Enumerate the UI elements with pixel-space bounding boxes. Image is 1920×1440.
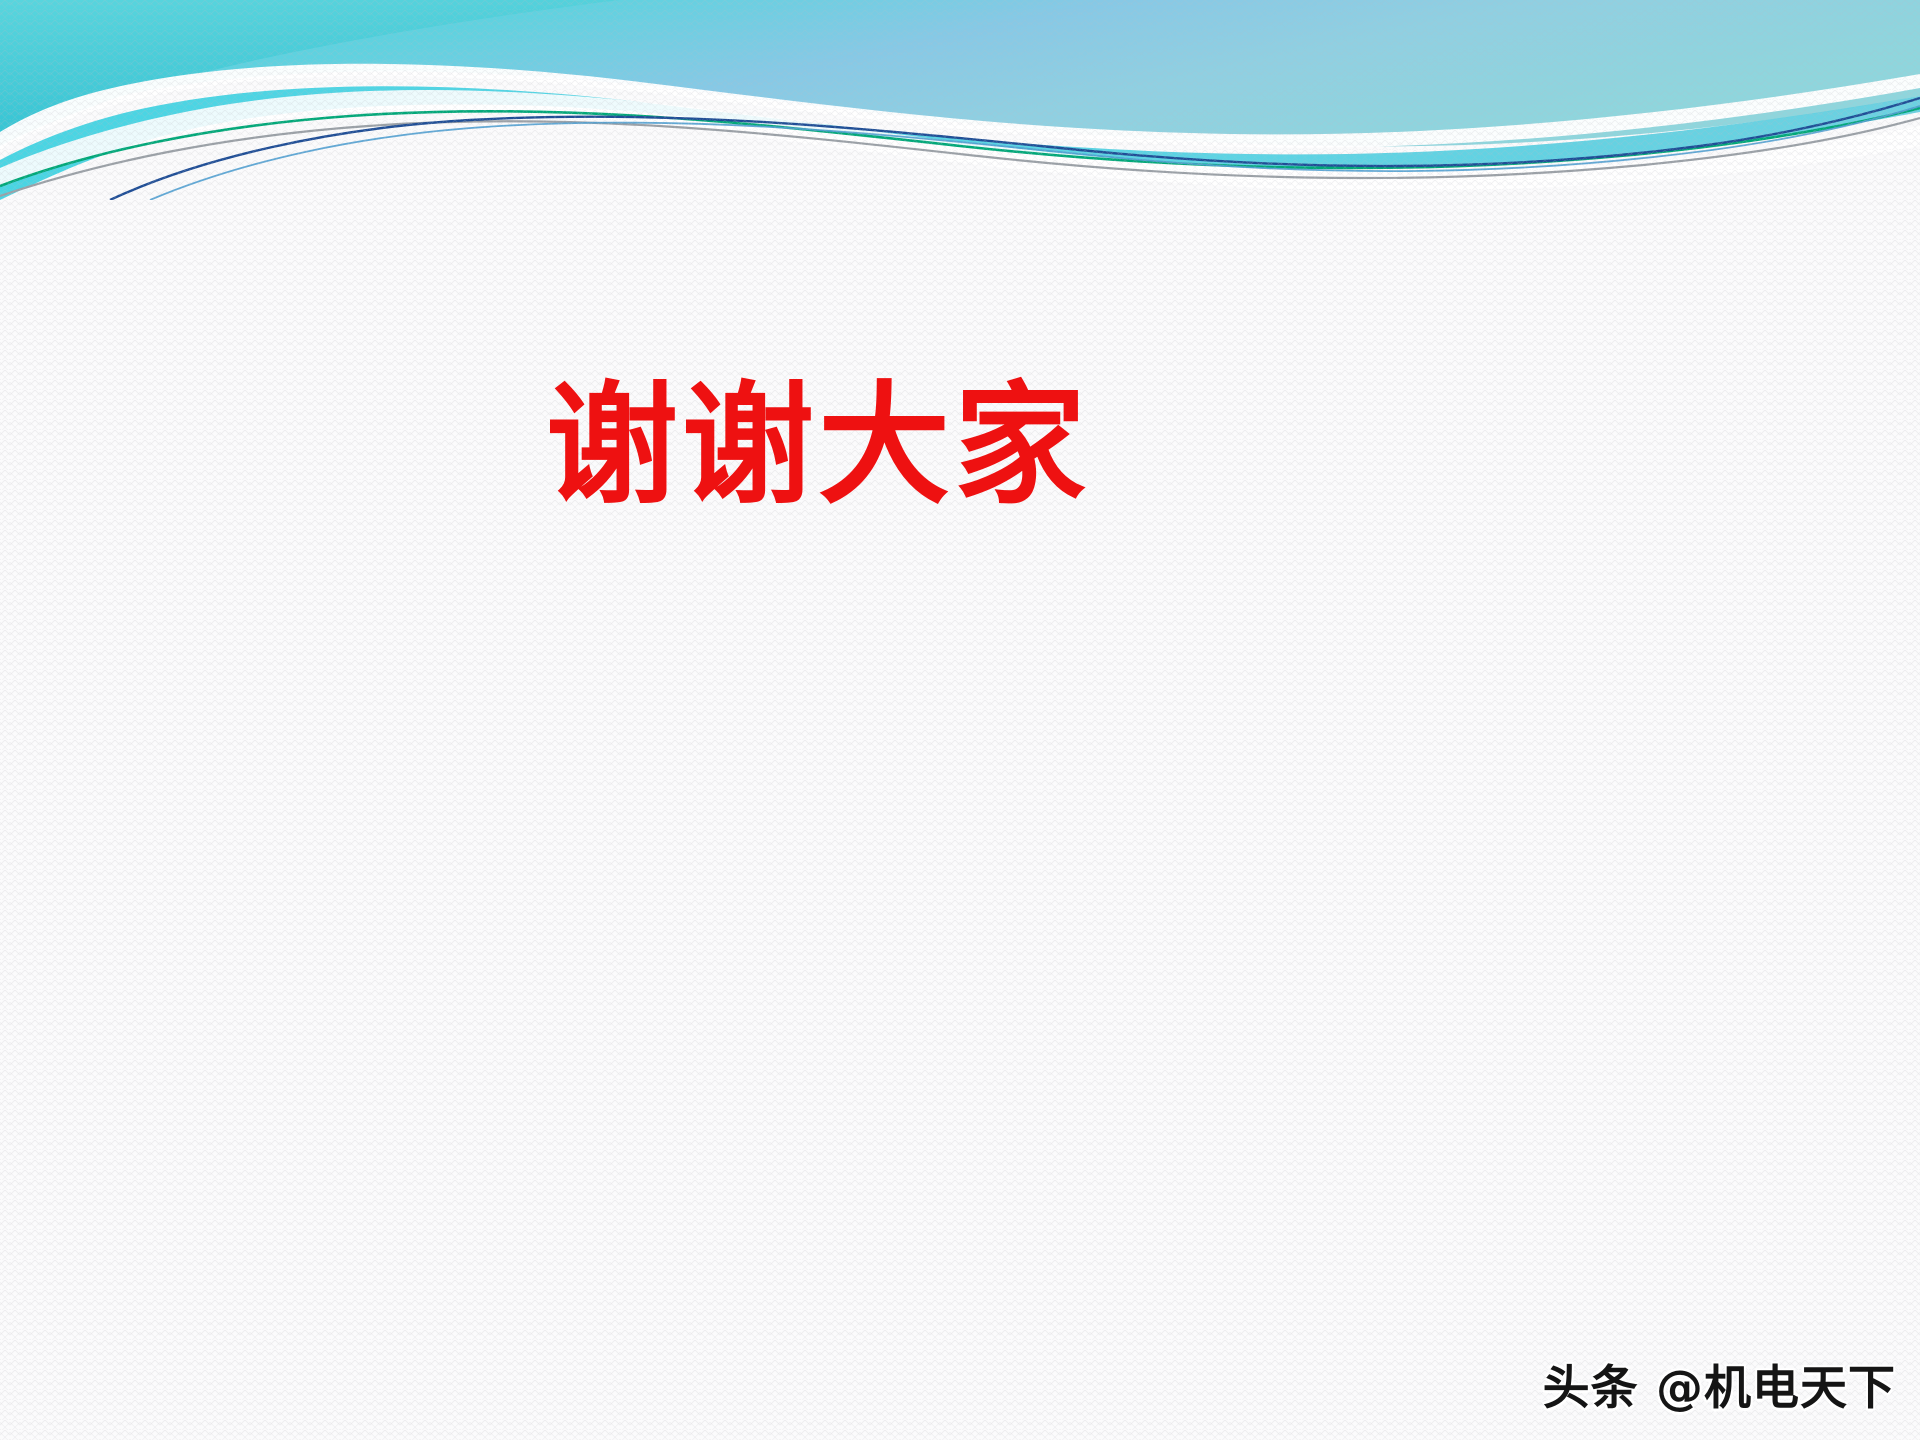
wave-graphic — [0, 0, 1920, 200]
title-container: 谢谢大家 — [0, 368, 1920, 524]
watermark-text: 头条 @机电天下 — [1543, 1349, 1896, 1418]
page-title: 谢谢大家 — [546, 368, 1090, 524]
presentation-slide: 谢谢大家 头条 @机电天下 — [0, 0, 1920, 1440]
header-wave-banner — [0, 0, 1920, 200]
